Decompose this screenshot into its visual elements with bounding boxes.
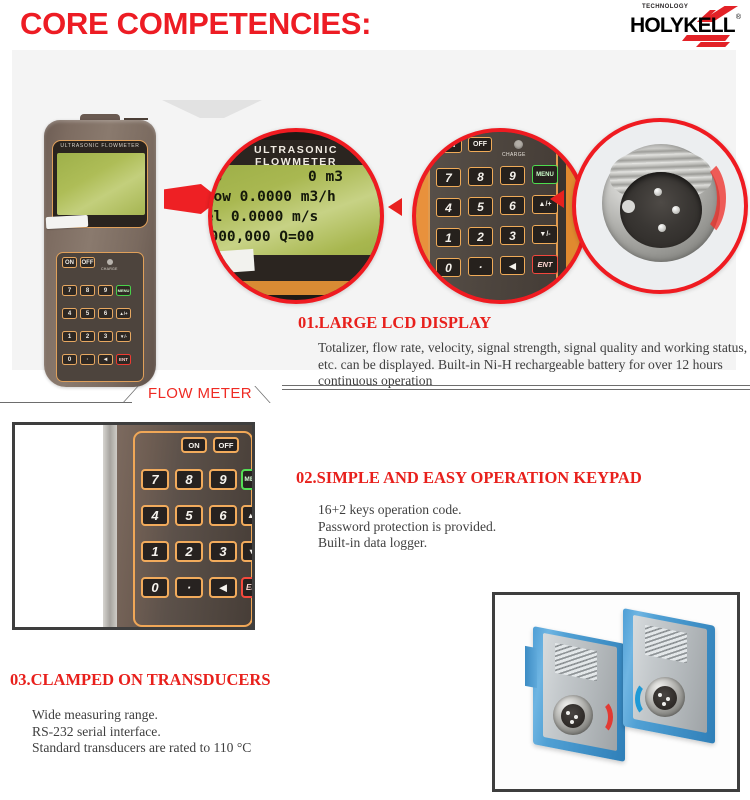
pointer-triangle-1-icon (388, 198, 402, 216)
keypad-zoom-key-ent: ENT (532, 255, 558, 274)
lcd-zoom-orange-trim (208, 281, 384, 295)
keypad-photo-key-back: ◄ (209, 577, 237, 598)
section-01-title: 01.LARGE LCD DISPLAY (298, 313, 491, 333)
logo-wordmark: HOLYKELL (630, 14, 735, 38)
device-lcd-caption: ULTRASONIC FLOWMETER (53, 143, 147, 149)
keypad-zoom-key-down-minus: ▼/- (532, 225, 558, 244)
keypad-closeup-photo: CHARGE ON OFF 7 8 9 MENU 4 5 6 ▲/+ 1 2 3… (12, 422, 255, 630)
keypad-zoom-key-menu: MENU (532, 165, 558, 184)
lcd-readout-signal: S=000,000 Q=00 (208, 229, 314, 245)
device-key-0: 0 (62, 354, 77, 365)
lcd-readout-flow: Flow 0.0000 m3/h (208, 189, 336, 205)
device-key-4: 4 (62, 308, 77, 319)
device-keypad-row-1: 7 8 9 MENU (62, 285, 140, 296)
transducer-side-tab (525, 646, 537, 688)
keypad-zoom-key-8: 8 (468, 167, 493, 186)
keypad-photo-key-6: 6 (209, 505, 237, 526)
transducer-pin-u2-icon (574, 715, 578, 719)
page-title: CORE COMPETENCIES: (20, 6, 371, 42)
keypad-photo-key-down-minus: ▼/- (241, 541, 255, 562)
keypad-zoom-charge-label: CHARGE (502, 152, 526, 158)
device-key-2: 2 (80, 331, 95, 342)
lcd-zoom-sticker (219, 249, 254, 273)
keypad-zoom-key-on: ON (438, 138, 462, 153)
device-keypad: CHARGE ON OFF 7 8 9 MENU 4 5 6 (56, 252, 144, 382)
device-side-metal-edge (103, 425, 117, 627)
keypad-photo-key-dot: · (175, 577, 203, 598)
connector-keyway-icon (622, 200, 635, 213)
device-key-6: 6 (98, 308, 113, 319)
keypad-zoom-left-trim (412, 128, 428, 304)
keypad-photo-key-3: 3 (209, 541, 237, 562)
lcd-readout-velocity: Vel 0.0000 m/s (208, 209, 318, 225)
keypad-zoom-panel: ON OFF CHARGE 7 8 9 MENU 4 5 6 ▲/+ 1 2 3… (428, 128, 558, 304)
transducer-pin-u3-icon (570, 720, 574, 724)
device-key-ent: ENT (116, 354, 131, 365)
device-key-on: ON (62, 257, 77, 268)
keypad-zoom-callout: ON OFF CHARGE 7 8 9 MENU 4 5 6 ▲/+ 1 2 3… (412, 128, 588, 304)
keypad-zoom-key-off: OFF (468, 137, 492, 152)
device-lcd-screen (57, 153, 145, 215)
transducer-connector-downstream (645, 677, 685, 717)
keypad-zoom-key-4: 4 (436, 198, 461, 217)
keypad-photo-key-off: OFF (213, 437, 239, 453)
lcd-zoom-callout: ULTRASONIC FLOWMETER POS 0 m3 Flow 0.000… (208, 128, 384, 304)
lcd-zoom-screen: POS 0 m3 Flow 0.0000 m3/h Vel 0.0000 m/s… (208, 165, 384, 255)
device-housing: ULTRASONIC FLOWMETER CHARGE ON OFF 7 8 9 (44, 120, 156, 387)
keypad-zoom-edge-shadow (558, 128, 566, 304)
device-key-back: ◄ (98, 354, 113, 365)
divider-line-left (0, 402, 132, 403)
device-key-dot: · (80, 354, 95, 365)
keypad-photo-key-0: 0 (141, 577, 169, 598)
device-key-up-plus: ▲/+ (116, 308, 131, 319)
section-02-body: 16+2 keys operation code. Password prote… (318, 502, 718, 552)
feature-panel-top: ULTRASONIC FLOWMETER CHARGE ON OFF 7 8 9 (12, 50, 736, 370)
keypad-zoom-key-back: ◄ (500, 256, 525, 275)
keypad-zoom-key-1: 1 (436, 228, 461, 247)
keypad-zoom-key-5: 5 (468, 197, 493, 216)
device-keypad-row-4: 0 · ◄ ENT (62, 354, 140, 365)
connector-red-arrow-arc-icon (672, 156, 726, 240)
keypad-zoom-key-3: 3 (500, 226, 525, 245)
section-03-title: 03.CLAMPED ON TRANSDUCERS (10, 670, 271, 690)
logo-underline-bar2-icon (696, 42, 730, 47)
device-key-8: 8 (80, 285, 95, 296)
device-label-sticker (46, 215, 89, 229)
product-feature-page: CORE COMPETENCIES: TECHNOLOGY HOLYKELL ®… (0, 0, 750, 800)
transducer-pin-d2-icon (666, 697, 670, 701)
device-key-7: 7 (62, 285, 77, 296)
lcd-readout-pos-label: POS (208, 169, 222, 185)
photo-background-left (15, 425, 103, 627)
keypad-zoom-charge-led-icon (514, 140, 523, 149)
keypad-photo-key-ent: ENT (241, 577, 255, 598)
section-02-title: 02.SIMPLE AND EASY OPERATION KEYPAD (296, 468, 642, 488)
keypad-photo-key-menu: MENU (241, 469, 255, 490)
device-key-down-minus: ▼/- (116, 331, 131, 342)
device-keypad-row-power: ON OFF (62, 257, 140, 268)
keypad-zoom-key-6: 6 (500, 196, 525, 215)
connector-zoom-callout (572, 118, 748, 294)
keypad-zoom-key-7: 7 (436, 168, 461, 187)
device-key-menu: MENU (116, 285, 131, 296)
transducer-pin-d1-icon (658, 693, 662, 697)
keypad-photo-key-2: 2 (175, 541, 203, 562)
keypad-photo-key-on: ON (181, 437, 207, 453)
keypad-photo-key-9: 9 (209, 469, 237, 490)
logo-registered-mark: ® (736, 14, 741, 21)
transducer-connector-upstream (553, 695, 593, 735)
divider-line-right-2 (282, 389, 750, 390)
logo-tagline: TECHNOLOGY (642, 4, 688, 10)
connector-pin-3-icon (658, 224, 666, 232)
keypad-photo-key-4: 4 (141, 505, 169, 526)
divider-line-right-1 (282, 385, 750, 386)
section-03-body: Wide measuring range. RS-232 serial inte… (32, 707, 412, 757)
keypad-zoom-key-dot: · (468, 257, 493, 276)
transducer-connector-bore-upstream (561, 704, 585, 728)
transducer-pin-u1-icon (566, 711, 570, 715)
keypad-photo-key-5: 5 (175, 505, 203, 526)
transducer-pin-d3-icon (662, 702, 666, 706)
device-key-off: OFF (80, 257, 95, 268)
handheld-flowmeter-photo: ULTRASONIC FLOWMETER CHARGE ON OFF 7 8 9 (44, 112, 156, 387)
keypad-zoom-key-2: 2 (468, 227, 493, 246)
divider-label: FLOW METER (148, 385, 252, 402)
keypad-photo-key-up-plus: ▲/+ (241, 505, 255, 526)
device-key-5: 5 (80, 308, 95, 319)
device-front-face: CHARGE ON OFF 7 8 9 MENU 4 5 6 ▲/+ 1 2 3… (117, 425, 255, 627)
keypad-photo-key-1: 1 (141, 541, 169, 562)
keypad-zoom-key-0: 0 (436, 258, 461, 277)
transducer-connector-bore-downstream (653, 686, 677, 710)
keypad-zoom-key-9: 9 (500, 166, 525, 185)
transducer-photo (492, 592, 740, 792)
connector-pin-1-icon (654, 188, 662, 196)
transducer-photo-scene (495, 595, 737, 789)
keypad-photo-key-7: 7 (141, 469, 169, 490)
device-keypad-row-2: 4 5 6 ▲/+ (62, 308, 140, 319)
device-key-9: 9 (98, 285, 113, 296)
device-lcd-bezel: ULTRASONIC FLOWMETER (52, 140, 148, 228)
brand-logo: TECHNOLOGY HOLYKELL ® (624, 2, 742, 52)
lcd-readout-pos-value: 0 m3 (308, 169, 343, 185)
keypad-photo-key-8: 8 (175, 469, 203, 490)
device-key-3: 3 (98, 331, 113, 342)
logo-underline-bar-icon (682, 35, 730, 41)
panel-notch-decoration (162, 100, 262, 118)
device-keypad-row-3: 1 2 3 ▼/- (62, 331, 140, 342)
flow-meter-divider: FLOW METER (0, 382, 750, 412)
device-key-1: 1 (62, 331, 77, 342)
